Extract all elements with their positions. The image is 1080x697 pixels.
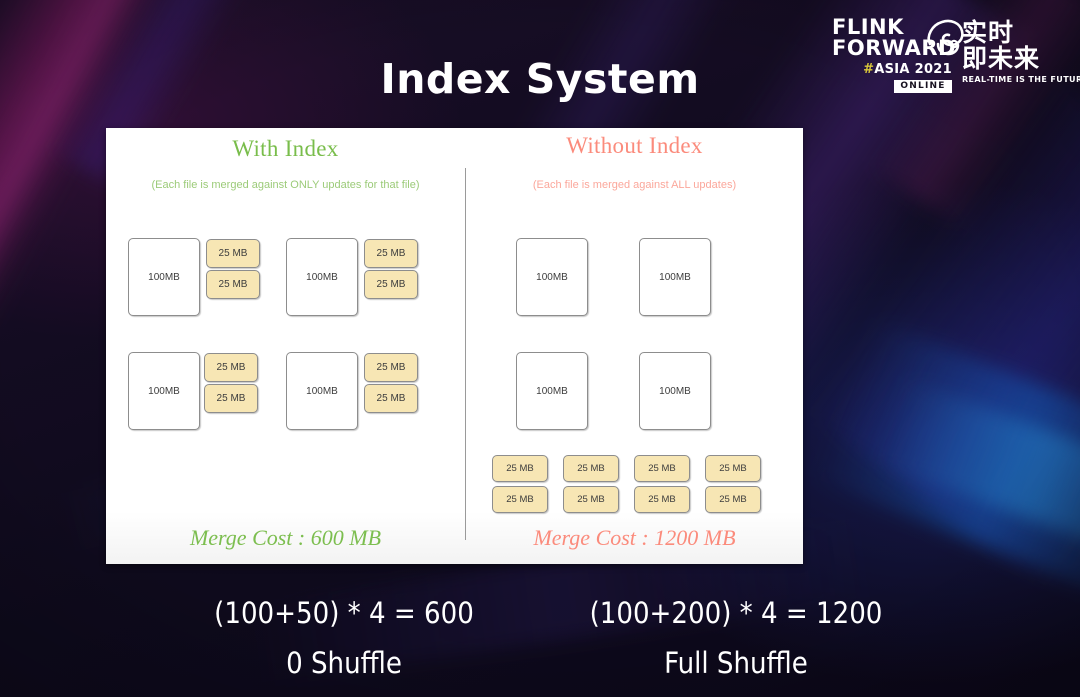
- file-box: 100MB: [516, 352, 588, 430]
- update-box: 25 MB: [563, 486, 619, 513]
- update-box: 25 MB: [206, 239, 260, 268]
- comparison-panel: With Index (Each file is merged against …: [106, 128, 803, 564]
- file-box: 100MB: [516, 238, 588, 316]
- flink-squirrel-icon: [922, 14, 968, 58]
- update-box: 25 MB: [634, 486, 690, 513]
- update-box: 25 MB: [364, 239, 418, 268]
- shuffle-row: 0 Shuffle Full Shuffle: [0, 646, 1080, 680]
- without-index-column: Without Index (Each file is merged again…: [466, 128, 803, 564]
- right-formula: (100+200) * 4 = 1200: [586, 596, 886, 630]
- file-box: 100MB: [286, 352, 358, 430]
- update-box: 25 MB: [204, 384, 258, 413]
- update-box: 25 MB: [364, 353, 418, 382]
- left-formula: (100+50) * 4 = 600: [194, 596, 494, 630]
- left-shuffle: 0 Shuffle: [194, 646, 494, 680]
- slide-canvas: FLINK FORWARD #ASIA 2021 ONLINE 实时 即未来 R…: [0, 0, 1080, 697]
- page-title: Index System: [0, 55, 1080, 103]
- logo-chinese-line1: 实时: [962, 20, 1066, 46]
- update-box: 25 MB: [364, 384, 418, 413]
- file-box: 100MB: [639, 238, 711, 316]
- file-box: 100MB: [128, 238, 200, 316]
- bottom-captions: (100+50) * 4 = 600 (100+200) * 4 = 1200 …: [0, 596, 1080, 680]
- update-box: 25 MB: [364, 270, 418, 299]
- update-box: 25 MB: [563, 455, 619, 482]
- with-index-column: With Index (Each file is merged against …: [106, 128, 465, 564]
- without-index-subtitle: (Each file is merged against ALL updates…: [466, 179, 803, 191]
- right-shuffle: Full Shuffle: [586, 646, 886, 680]
- update-box: 25 MB: [705, 486, 761, 513]
- with-index-subtitle: (Each file is merged against ONLY update…: [106, 179, 465, 191]
- with-index-heading: With Index: [106, 136, 465, 162]
- update-box: 25 MB: [206, 270, 260, 299]
- update-box: 25 MB: [634, 455, 690, 482]
- update-box: 25 MB: [705, 455, 761, 482]
- with-index-merge-cost: Merge Cost : 600 MB: [106, 525, 465, 551]
- file-box: 100MB: [128, 352, 200, 430]
- file-box: 100MB: [286, 238, 358, 316]
- update-box: 25 MB: [492, 486, 548, 513]
- formula-row: (100+50) * 4 = 600 (100+200) * 4 = 1200: [0, 596, 1080, 630]
- without-index-merge-cost: Merge Cost : 1200 MB: [466, 525, 803, 551]
- update-box: 25 MB: [492, 455, 548, 482]
- file-box: 100MB: [639, 352, 711, 430]
- without-index-heading: Without Index: [466, 133, 803, 159]
- update-box: 25 MB: [204, 353, 258, 382]
